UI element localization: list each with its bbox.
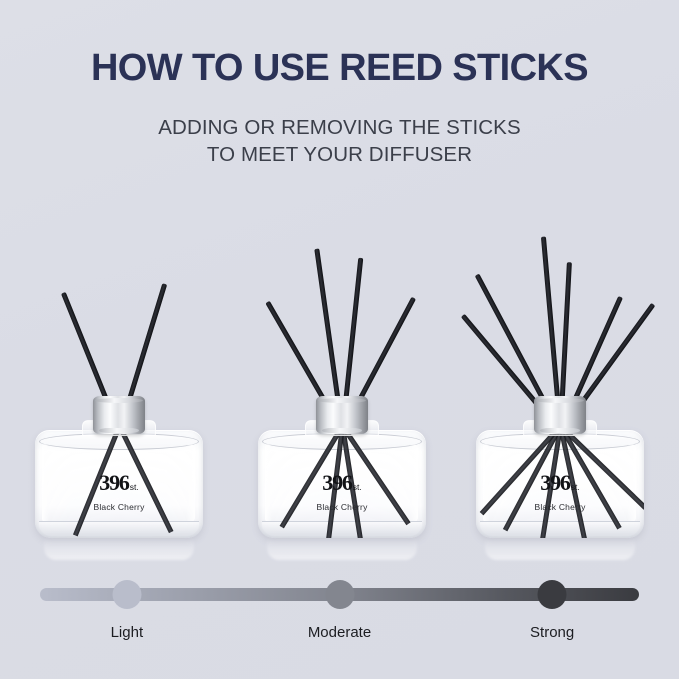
subtitle-line-2: TO MEET YOUR DIFFUSER xyxy=(0,141,679,168)
diffuser-stage: 396st. Black Cherry 396st. xyxy=(0,215,679,560)
submerged-reeds-strong xyxy=(476,430,644,538)
diffuser-light: 396st. Black Cherry xyxy=(14,215,224,560)
submerged-reeds-light xyxy=(35,430,203,538)
bottle-light: 396st. Black Cherry xyxy=(35,430,203,538)
slider-label-light: Light xyxy=(111,624,144,641)
bottle-strong: 396st. Black Cherry xyxy=(476,430,644,538)
bottle-reflection xyxy=(267,534,417,560)
submerged-reed xyxy=(117,430,173,533)
submerged-reed xyxy=(72,430,121,536)
bottle-glass xyxy=(258,430,426,538)
bottle-moderate: 396st. Black Cherry xyxy=(258,430,426,538)
slider-label-strong: Strong xyxy=(530,624,574,641)
page-subtitle: ADDING OR REMOVING THE STICKS TO MEET YO… xyxy=(0,114,679,168)
subtitle-line-1: ADDING OR REMOVING THE STICKS xyxy=(0,114,679,141)
bottle-reflection xyxy=(485,534,635,560)
bottle-reflection xyxy=(44,534,194,560)
slider-knob-moderate[interactable] xyxy=(325,580,354,609)
header: HOW TO USE REED STICKS ADDING OR REMOVIN… xyxy=(0,0,679,168)
slider-knob-light[interactable] xyxy=(112,580,141,609)
bottle-collar-icon xyxy=(93,396,145,434)
infographic-root: HOW TO USE REED STICKS ADDING OR REMOVIN… xyxy=(0,0,679,679)
slider-labels: Light Moderate Strong xyxy=(40,624,639,648)
diffuser-strong: 396st. Black Cherry xyxy=(455,215,665,560)
submerged-reeds-moderate xyxy=(258,430,426,538)
slider-label-moderate: Moderate xyxy=(308,624,371,641)
diffuser-moderate: 396st. Black Cherry xyxy=(237,215,447,560)
bottle-collar-icon xyxy=(534,396,586,434)
bottle-glass xyxy=(35,430,203,538)
bottle-glass xyxy=(476,430,644,538)
intensity-slider[interactable]: Light Moderate Strong xyxy=(40,580,639,660)
slider-knob-strong[interactable] xyxy=(538,580,567,609)
bottle-collar-icon xyxy=(316,396,368,434)
page-title: HOW TO USE REED STICKS xyxy=(0,48,679,90)
